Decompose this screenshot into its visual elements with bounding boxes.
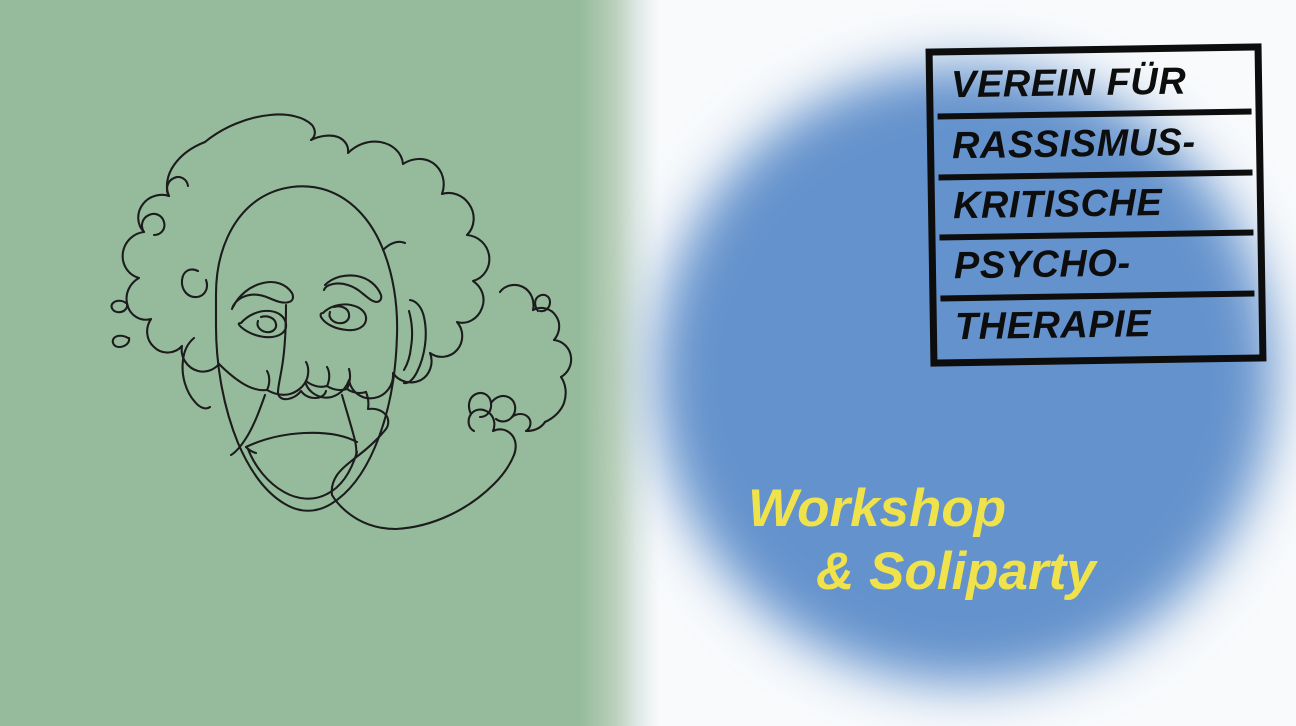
logo-row-label: VEREIN FÜR [951, 63, 1187, 105]
logo-row: PSYCHO- [940, 236, 1255, 301]
logo-row-label: RASSISMUS- [952, 123, 1196, 165]
line-art-portrait [20, 95, 580, 615]
logo-row-label: KRITISCHE [953, 184, 1163, 225]
logo-row-label: THERAPIE [955, 305, 1152, 346]
logo-row: VEREIN FÜR [937, 55, 1252, 120]
logo-row: THERAPIE [940, 296, 1255, 355]
verein-logo-box: VEREIN FÜR RASSISMUS- KRITISCHE PSYCHO- … [926, 43, 1267, 366]
logo-row: KRITISCHE [939, 175, 1254, 240]
event-title-line-1: Workshop [748, 478, 1208, 541]
event-title-block: Workshop & Soliparty [748, 478, 1208, 603]
poster-canvas: VEREIN FÜR RASSISMUS- KRITISCHE PSYCHO- … [0, 0, 1296, 726]
event-title-line-2: & Soliparty [748, 541, 1208, 604]
logo-row-label: PSYCHO- [954, 245, 1131, 286]
logo-row: RASSISMUS- [938, 115, 1253, 180]
